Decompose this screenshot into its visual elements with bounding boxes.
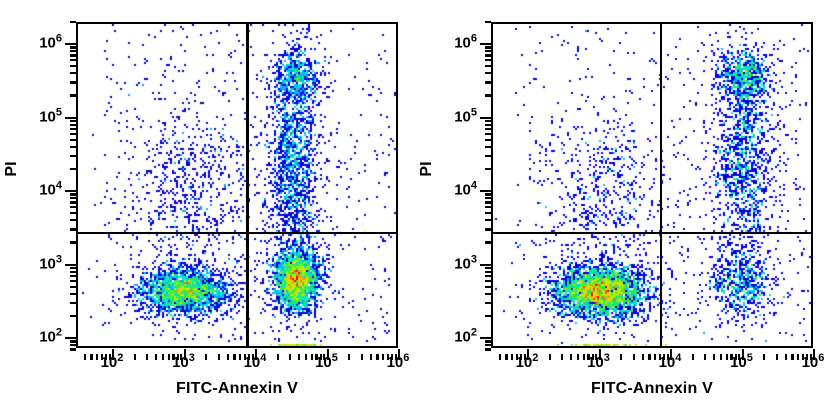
y-tick-minor [485,72,491,74]
y-tick-labels-right: 102103104105106 [415,0,477,405]
y-tick-label-1e2: 102 [39,330,62,345]
y-tick-minor [70,72,76,74]
x-tick-minor [648,354,650,360]
panel-right: 102103104105106 FITC-Annexin V PI 102103… [415,0,830,405]
plot-frame-left [76,22,398,348]
x-tick-minor [642,354,644,360]
y-tick-major-1e5 [65,117,76,119]
y-tick-minor [70,124,76,126]
x-tick-minor [776,354,778,360]
y-tick-minor [70,155,76,157]
x-tick-minor [791,354,793,360]
x-tick-minor [348,354,350,360]
x-tick-minor [505,354,507,360]
x-tick-label-1e3: 103 [587,355,610,370]
panel-left: 102103104105106 FITC-Annexin V PI 102103… [0,0,415,405]
y-tick-minor [70,212,76,214]
x-tick-minor [577,354,579,360]
y-tick-minor [70,65,76,67]
y-tick-minor [70,50,76,52]
y-tick-minor [70,120,76,122]
x-tick-minor [654,354,656,360]
x-tick-minor [205,354,207,360]
y-tick-minor [485,241,491,243]
x-tick-minor [583,354,585,360]
y-tick-major-1e2 [65,337,76,339]
y-axis-ticks-right [480,22,492,350]
x-tick-minor [311,354,313,360]
y-tick-minor [485,155,491,157]
y-tick-minor [70,201,76,203]
y-axis-title-right: PI [418,139,436,199]
y-axis-title-left: PI [3,139,21,199]
x-tick-minor [549,354,551,360]
y-tick-label-1e4: 104 [454,183,477,198]
y-tick-label-1e4: 104 [39,183,62,198]
x-tick-minor [90,354,92,360]
y-tick-minor [485,302,491,304]
y-tick-minor [70,128,76,130]
y-tick-minor [485,212,491,214]
y-tick-major-1e3 [480,264,491,266]
y-tick-minor [485,81,491,83]
y-tick-minor [485,120,491,122]
y-tick-minor [70,241,76,243]
x-tick-minor [218,354,220,360]
x-tick-minor [227,354,229,360]
x-tick-minor [96,354,98,360]
x-tick-minor [168,354,170,360]
y-tick-labels-left: 102103104105106 [0,0,62,405]
x-tick-minor [561,354,563,360]
dotplot-canvas-right [493,24,811,346]
y-tick-minor [70,139,76,141]
y-tick-minor [70,46,76,48]
y-tick-minor [70,275,76,277]
x-tick-minor [361,354,363,360]
y-tick-major-1e4 [65,190,76,192]
y-tick-minor [485,50,491,52]
y-tick-minor [485,21,491,23]
x-tick-label-1e2: 102 [101,355,124,370]
plot-frame-right [491,22,813,348]
x-tick-label-1e6: 106 [802,355,825,370]
y-tick-minor [485,280,491,282]
x-tick-minor [797,354,799,360]
x-tick-minor [511,354,513,360]
y-tick-label-1e2: 102 [454,330,477,345]
x-tick-minor [84,354,86,360]
y-tick-minor [485,168,491,170]
y-tick-minor [485,293,491,295]
y-tick-major-1e2 [480,337,491,339]
y-tick-minor [485,124,491,126]
y-tick-minor [485,94,491,96]
y-tick-minor [70,228,76,230]
y-tick-minor [485,139,491,141]
y-tick-minor [485,348,491,350]
y-tick-label-1e6: 106 [39,36,62,51]
y-tick-minor [485,46,491,48]
y-tick-minor [70,348,76,350]
y-tick-minor [70,219,76,221]
x-tick-minor [633,354,635,360]
y-tick-minor [70,168,76,170]
figure-root: 102103104105106 FITC-Annexin V PI 102103… [0,0,830,405]
x-tick-minor [239,354,241,360]
x-tick-minor [146,354,148,360]
y-tick-minor [485,59,491,61]
y-tick-minor [70,315,76,317]
y-tick-major-1e5 [480,117,491,119]
x-tick-minor [785,354,787,360]
x-tick-minor [370,354,372,360]
x-tick-minor [134,354,136,360]
x-tick-label-1e5: 105 [315,355,338,370]
y-tick-minor [485,128,491,130]
y-tick-minor [70,267,76,269]
x-axis-title-right: FITC-Annexin V [491,380,813,398]
x-tick-minor [382,354,384,360]
x-tick-minor [499,354,501,360]
y-tick-minor [70,340,76,342]
x-tick-label-1e5: 105 [730,355,753,370]
x-tick-minor [233,354,235,360]
y-tick-minor [485,315,491,317]
x-tick-minor [620,354,622,360]
x-axis-ticks-right [491,348,815,360]
y-tick-label-1e3: 103 [39,256,62,271]
x-tick-label-1e3: 103 [172,355,195,370]
y-tick-minor [485,286,491,288]
y-tick-label-1e5: 105 [39,109,62,124]
x-tick-label-1e6: 106 [387,355,410,370]
y-tick-minor [70,54,76,56]
y-tick-minor [70,21,76,23]
y-tick-minor [485,206,491,208]
y-tick-major-1e4 [480,190,491,192]
y-axis-ticks-left [65,22,77,350]
y-tick-label-1e3: 103 [454,256,477,271]
y-tick-minor [485,275,491,277]
y-tick-minor [70,197,76,199]
y-tick-minor [70,81,76,83]
x-tick-minor [298,354,300,360]
y-tick-minor [485,133,491,135]
y-tick-minor [70,293,76,295]
y-tick-label-1e5: 105 [454,109,477,124]
y-tick-minor [70,280,76,282]
dotplot-canvas-left [78,24,396,346]
gate-line-vertical-right[interactable] [660,22,663,348]
y-tick-minor [70,146,76,148]
y-tick-minor [70,59,76,61]
y-tick-minor [485,65,491,67]
x-tick-minor [155,354,157,360]
y-tick-minor [485,228,491,230]
gate-line-horizontal-right[interactable] [491,232,813,235]
gate-line-horizontal-left[interactable] [76,232,398,235]
x-tick-minor [376,354,378,360]
y-tick-minor [70,193,76,195]
y-tick-minor [70,286,76,288]
x-axis-ticks-left [76,348,400,360]
y-tick-label-1e6: 106 [454,36,477,51]
y-tick-minor [485,219,491,221]
y-tick-minor [485,197,491,199]
y-tick-minor [485,271,491,273]
x-tick-minor [713,354,715,360]
y-tick-major-1e3 [65,264,76,266]
y-tick-minor [70,271,76,273]
x-tick-minor [570,354,572,360]
x-tick-label-1e4: 104 [244,355,267,370]
y-tick-minor [485,340,491,342]
x-tick-label-1e2: 102 [516,355,539,370]
y-tick-major-1e6 [480,43,491,45]
x-tick-minor [162,354,164,360]
gate-line-vertical-left[interactable] [246,22,249,348]
y-tick-minor [485,201,491,203]
x-tick-minor [692,354,694,360]
x-tick-minor [726,354,728,360]
y-tick-minor [70,302,76,304]
y-tick-minor [70,133,76,135]
x-tick-minor [720,354,722,360]
x-tick-minor [763,354,765,360]
y-tick-minor [70,94,76,96]
x-tick-minor [704,354,706,360]
y-tick-minor [485,344,491,346]
y-tick-minor [485,146,491,148]
y-tick-minor [70,344,76,346]
x-tick-minor [305,354,307,360]
y-tick-minor [485,54,491,56]
x-tick-minor [289,354,291,360]
x-tick-label-1e4: 104 [659,355,682,370]
y-tick-minor [485,267,491,269]
y-tick-major-1e6 [65,43,76,45]
y-tick-minor [485,193,491,195]
y-tick-minor [70,206,76,208]
x-tick-minor [277,354,279,360]
x-axis-title-left: FITC-Annexin V [76,380,398,398]
